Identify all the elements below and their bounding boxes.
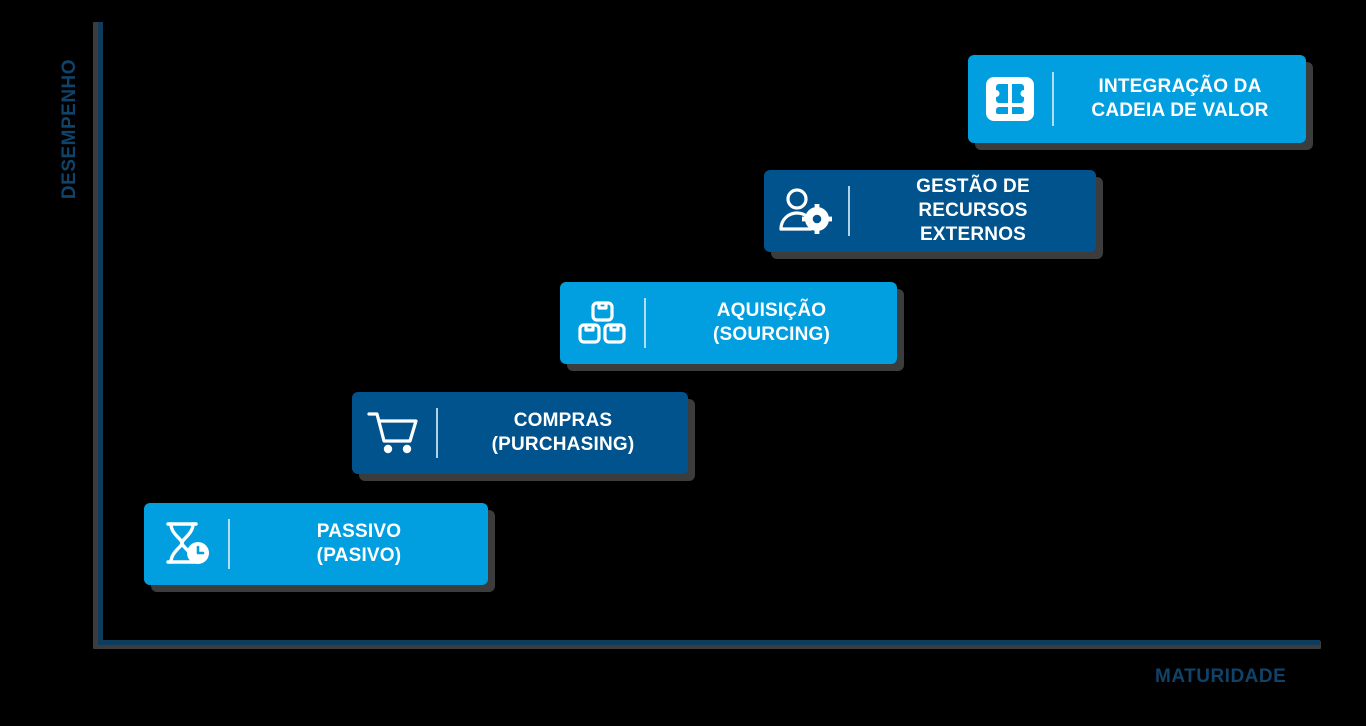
step-divider	[228, 519, 230, 570]
step-label-compras: COMPRAS (PURCHASING)	[438, 409, 688, 458]
step-bar-gestao-recursos-externos[interactable]: GESTÃO DE RECURSOS EXTERNOS	[764, 170, 1096, 252]
step-label-gestao-recursos-externos: GESTÃO DE RECURSOS EXTERNOS	[850, 175, 1096, 248]
step-divider	[848, 186, 850, 237]
step-divider	[644, 298, 646, 349]
step-label-integracao-cadeia-valor: INTEGRAÇÃO DA CADEIA DE VALOR	[1054, 75, 1306, 124]
step-bar-aquisicao[interactable]: AQUISIÇÃO (SOURCING)	[560, 282, 897, 364]
step-divider	[1052, 72, 1054, 127]
maturity-staircase-diagram: DESEMPENHO MATURIDADE PASSIVO (PASIVO)	[0, 0, 1366, 726]
step-bar-compras[interactable]: COMPRAS (PURCHASING)	[352, 392, 688, 474]
step-divider	[436, 408, 438, 459]
x-axis-label: MATURIDADE	[1155, 666, 1286, 688]
person-gear-icon	[764, 187, 848, 235]
step-label-passivo: PASSIVO (PASIVO)	[230, 520, 488, 569]
stacked-boxes-icon	[560, 299, 644, 347]
hourglass-clock-icon	[144, 520, 228, 568]
step-bar-integracao-cadeia-valor[interactable]: INTEGRAÇÃO DA CADEIA DE VALOR	[968, 55, 1306, 143]
y-axis-label: DESEMPENHO	[59, 39, 81, 219]
shopping-cart-icon	[352, 409, 436, 457]
step-bar-passivo[interactable]: PASSIVO (PASIVO)	[144, 503, 488, 585]
y-axis-line	[98, 22, 103, 642]
step-label-aquisicao: AQUISIÇÃO (SOURCING)	[646, 299, 897, 348]
x-axis-line	[98, 640, 1320, 645]
puzzle-pieces-icon	[968, 75, 1052, 123]
